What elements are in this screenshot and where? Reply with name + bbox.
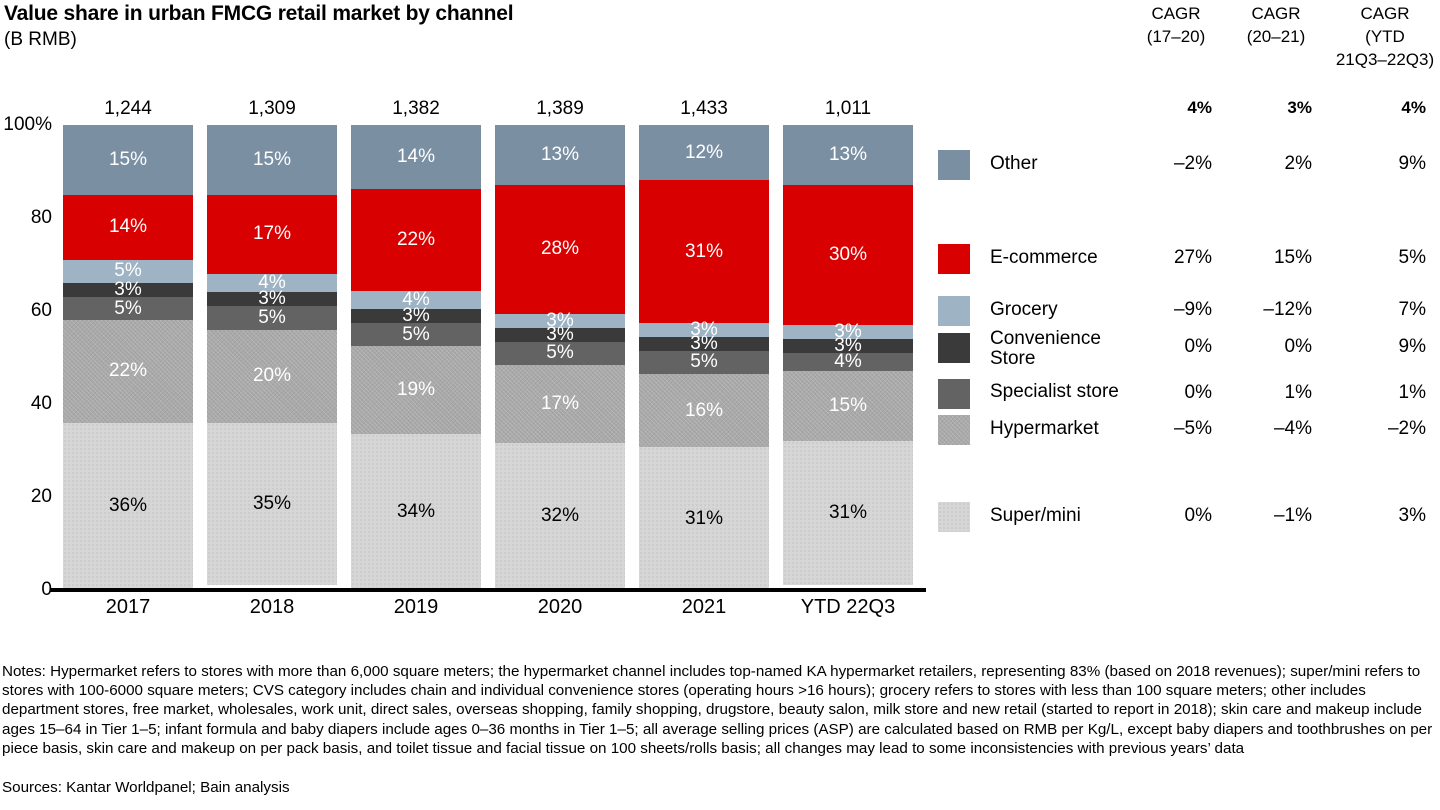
stacked-bar[interactable]: 12%31%3%3%5%16%31% <box>639 125 769 590</box>
legend-swatch <box>938 502 970 532</box>
bar-segment[interactable]: 5% <box>639 351 769 374</box>
legend-cagr-value: –2% <box>1120 153 1212 175</box>
bar-segment-label: 32% <box>541 505 579 527</box>
bar-segment-label: 31% <box>829 502 867 524</box>
cagr-header-3: CAGR (YTD 21Q3–22Q3) <box>1330 2 1440 71</box>
legend-cagr-value: 1% <box>1222 382 1312 404</box>
legend-cagr-value: 1% <box>1330 382 1426 404</box>
bar-segment-label: 16% <box>685 400 723 422</box>
bar-segment[interactable]: 28% <box>495 185 625 314</box>
bar-segment[interactable]: 15% <box>63 125 193 195</box>
x-axis-tick-label: 2021 <box>632 596 776 619</box>
legend-cagr-value: 2% <box>1222 153 1312 175</box>
bar-segment-label: 5% <box>402 324 429 346</box>
legend-cagr-value: –2% <box>1330 418 1426 440</box>
bar-segment-label: 14% <box>109 216 147 238</box>
bar-segment[interactable]: 35% <box>207 423 337 586</box>
bar-segment[interactable]: 32% <box>495 443 625 590</box>
cagr-header-1: CAGR (17–20) <box>1128 2 1224 48</box>
bar-segment-label: 15% <box>253 149 291 171</box>
bar-segment[interactable]: 17% <box>495 365 625 443</box>
cagr-header-3-line3: 21Q3–22Q3) <box>1330 48 1440 71</box>
bar-segment[interactable]: 13% <box>495 125 625 185</box>
bar-segment[interactable]: 19% <box>351 346 481 433</box>
bar-segment[interactable]: 3% <box>639 337 769 351</box>
bar-segment-label: 28% <box>541 238 579 260</box>
cagr-total-2: 3% <box>1222 98 1312 118</box>
bar-segment[interactable]: 5% <box>351 323 481 346</box>
bar-segment[interactable]: 5% <box>495 342 625 365</box>
bar-segment-label: 17% <box>541 393 579 415</box>
cagr-header-2-line1: CAGR <box>1228 2 1324 25</box>
bar-segment-label: 35% <box>253 493 291 515</box>
bar-segment-label: 14% <box>397 146 435 168</box>
bar-segment[interactable]: 15% <box>783 371 913 441</box>
bar-segment[interactable]: 30% <box>783 185 913 325</box>
x-axis-tick-label: 2017 <box>56 596 200 619</box>
y-axis-tick: 0 <box>0 579 52 601</box>
legend-swatch <box>938 333 970 363</box>
bar-segment-label: 4% <box>834 351 861 373</box>
x-axis-tick-label: 2020 <box>488 596 632 619</box>
bar-segment[interactable]: 12% <box>639 125 769 180</box>
legend-cagr-value: 27% <box>1120 247 1212 269</box>
cagr-header-1-line1: CAGR <box>1128 2 1224 25</box>
legend-cagr-value: –4% <box>1222 418 1312 440</box>
y-axis-tick: 40 <box>0 393 52 415</box>
bar-segment-label: 20% <box>253 365 291 387</box>
y-axis-tick: 20 <box>0 486 52 508</box>
legend-cagr-value: –9% <box>1120 299 1212 321</box>
cagr-header-2-line2: (20–21) <box>1228 25 1324 48</box>
legend-cagr-value: 0% <box>1120 382 1212 404</box>
legend-cagr-value: 0% <box>1222 336 1312 358</box>
legend-swatch <box>938 379 970 409</box>
bar-segment[interactable]: 36% <box>63 423 193 590</box>
bar-segment[interactable]: 31% <box>639 180 769 323</box>
bar-segment-label: 19% <box>397 379 435 401</box>
bar-segment[interactable]: 34% <box>351 434 481 590</box>
x-axis-tick-label: 2019 <box>344 596 488 619</box>
bar-segment-label: 5% <box>690 351 717 373</box>
bar-segment[interactable]: 14% <box>63 195 193 260</box>
bar-segment-label: 30% <box>829 244 867 266</box>
bar-segment-label: 5% <box>114 298 141 320</box>
bar-segment[interactable]: 14% <box>351 125 481 189</box>
chart-page: Value share in urban FMCG retail market … <box>0 0 1440 810</box>
page-title: Value share in urban FMCG retail market … <box>4 2 513 26</box>
bar-total-label: 1,011 <box>776 98 920 120</box>
notes-text: Notes: Hypermarket refers to stores with… <box>2 662 1438 758</box>
legend-cagr-value: 3% <box>1330 505 1426 527</box>
legend-swatch <box>938 244 970 274</box>
legend-cagr-value: 0% <box>1120 505 1212 527</box>
bar-total-label: 1,389 <box>488 98 632 120</box>
y-axis: 100%806040200 <box>0 125 52 590</box>
cagr-header-3-line2: (YTD <box>1330 25 1440 48</box>
x-axis-tick-label: YTD 22Q3 <box>776 596 920 619</box>
legend-swatch <box>938 415 970 445</box>
x-axis-tick-label: 2018 <box>200 596 344 619</box>
cagr-header-1-line2: (17–20) <box>1128 25 1224 48</box>
stacked-bar[interactable]: 15%17%4%3%5%20%35% <box>207 125 337 590</box>
bar-segment[interactable]: 15% <box>207 125 337 195</box>
legend-cagr-value: 7% <box>1330 299 1426 321</box>
bar-segment-label: 13% <box>541 144 579 166</box>
bar-total-label: 1,382 <box>344 98 488 120</box>
bar-segment[interactable]: 4% <box>783 353 913 372</box>
page-subtitle: (B RMB) <box>4 29 77 51</box>
legend-cagr-value: 9% <box>1330 153 1426 175</box>
legend-cagr-value: 9% <box>1330 336 1426 358</box>
bar-segment[interactable]: 31% <box>639 447 769 590</box>
bar-segment-label: 12% <box>685 142 723 164</box>
bar-segment-label: 34% <box>397 501 435 523</box>
legend-cagr-value: –5% <box>1120 418 1212 440</box>
bar-segment[interactable]: 5% <box>63 297 193 320</box>
bar-segment-label: 31% <box>685 241 723 263</box>
bar-total-label: 1,433 <box>632 98 776 120</box>
bar-segment-label: 13% <box>829 144 867 166</box>
bar-segment[interactable]: 22% <box>351 189 481 290</box>
stacked-bar[interactable]: 13%30%3%3%4%15%31% <box>783 125 913 590</box>
bar-segment[interactable]: 5% <box>207 306 337 329</box>
bar-segment[interactable]: 20% <box>207 330 337 423</box>
legend-swatch <box>938 150 970 180</box>
legend-cagr-value: 0% <box>1120 336 1212 358</box>
bar-segment[interactable]: 3% <box>351 309 481 323</box>
plot-area: 15%14%5%3%5%22%36%15%17%4%3%5%20%35%14%2… <box>56 125 920 590</box>
cagr-total-1: 4% <box>1120 98 1212 118</box>
y-axis-tick: 100% <box>0 114 52 136</box>
stacked-bar[interactable]: 13%28%3%3%5%17%32% <box>495 125 625 590</box>
bar-segment[interactable]: 13% <box>783 125 913 185</box>
bar-total-label: 1,244 <box>56 98 200 120</box>
x-axis-line <box>50 588 926 592</box>
bar-segment[interactable]: 17% <box>207 195 337 274</box>
bar-segment-label: 31% <box>685 508 723 530</box>
sources-text: Sources: Kantar Worldpanel; Bain analysi… <box>2 778 290 797</box>
bar-segment[interactable]: 3% <box>63 283 193 297</box>
bar-total-label: 1,309 <box>200 98 344 120</box>
bar-segment[interactable]: 3% <box>207 292 337 306</box>
bar-segment[interactable]: 16% <box>639 374 769 448</box>
y-axis-tick: 80 <box>0 207 52 229</box>
bar-segment[interactable]: 31% <box>783 441 913 585</box>
cagr-total-3: 4% <box>1330 98 1426 118</box>
bar-segment-label: 17% <box>253 223 291 245</box>
stacked-bar[interactable]: 14%22%4%3%5%19%34% <box>351 125 481 590</box>
bar-segment[interactable]: 22% <box>63 320 193 422</box>
y-axis-tick: 60 <box>0 300 52 322</box>
bar-segment-label: 36% <box>109 495 147 517</box>
cagr-header-3-line1: CAGR <box>1330 2 1440 25</box>
bar-segment-label: 5% <box>258 307 285 329</box>
bar-segment[interactable]: 3% <box>495 328 625 342</box>
cagr-header-2: CAGR (20–21) <box>1228 2 1324 48</box>
legend-swatch <box>938 296 970 326</box>
legend-cagr-value: –12% <box>1222 299 1312 321</box>
bar-segment-label: 15% <box>109 149 147 171</box>
stacked-bar[interactable]: 15%14%5%3%5%22%36% <box>63 125 193 590</box>
legend-cagr-value: –1% <box>1222 505 1312 527</box>
bar-segment-label: 22% <box>109 360 147 382</box>
bar-segment-label: 22% <box>397 229 435 251</box>
bar-segment-label: 5% <box>546 342 573 364</box>
legend-cagr-value: 15% <box>1222 247 1312 269</box>
bar-segment-label: 15% <box>829 395 867 417</box>
legend-cagr-value: 5% <box>1330 247 1426 269</box>
